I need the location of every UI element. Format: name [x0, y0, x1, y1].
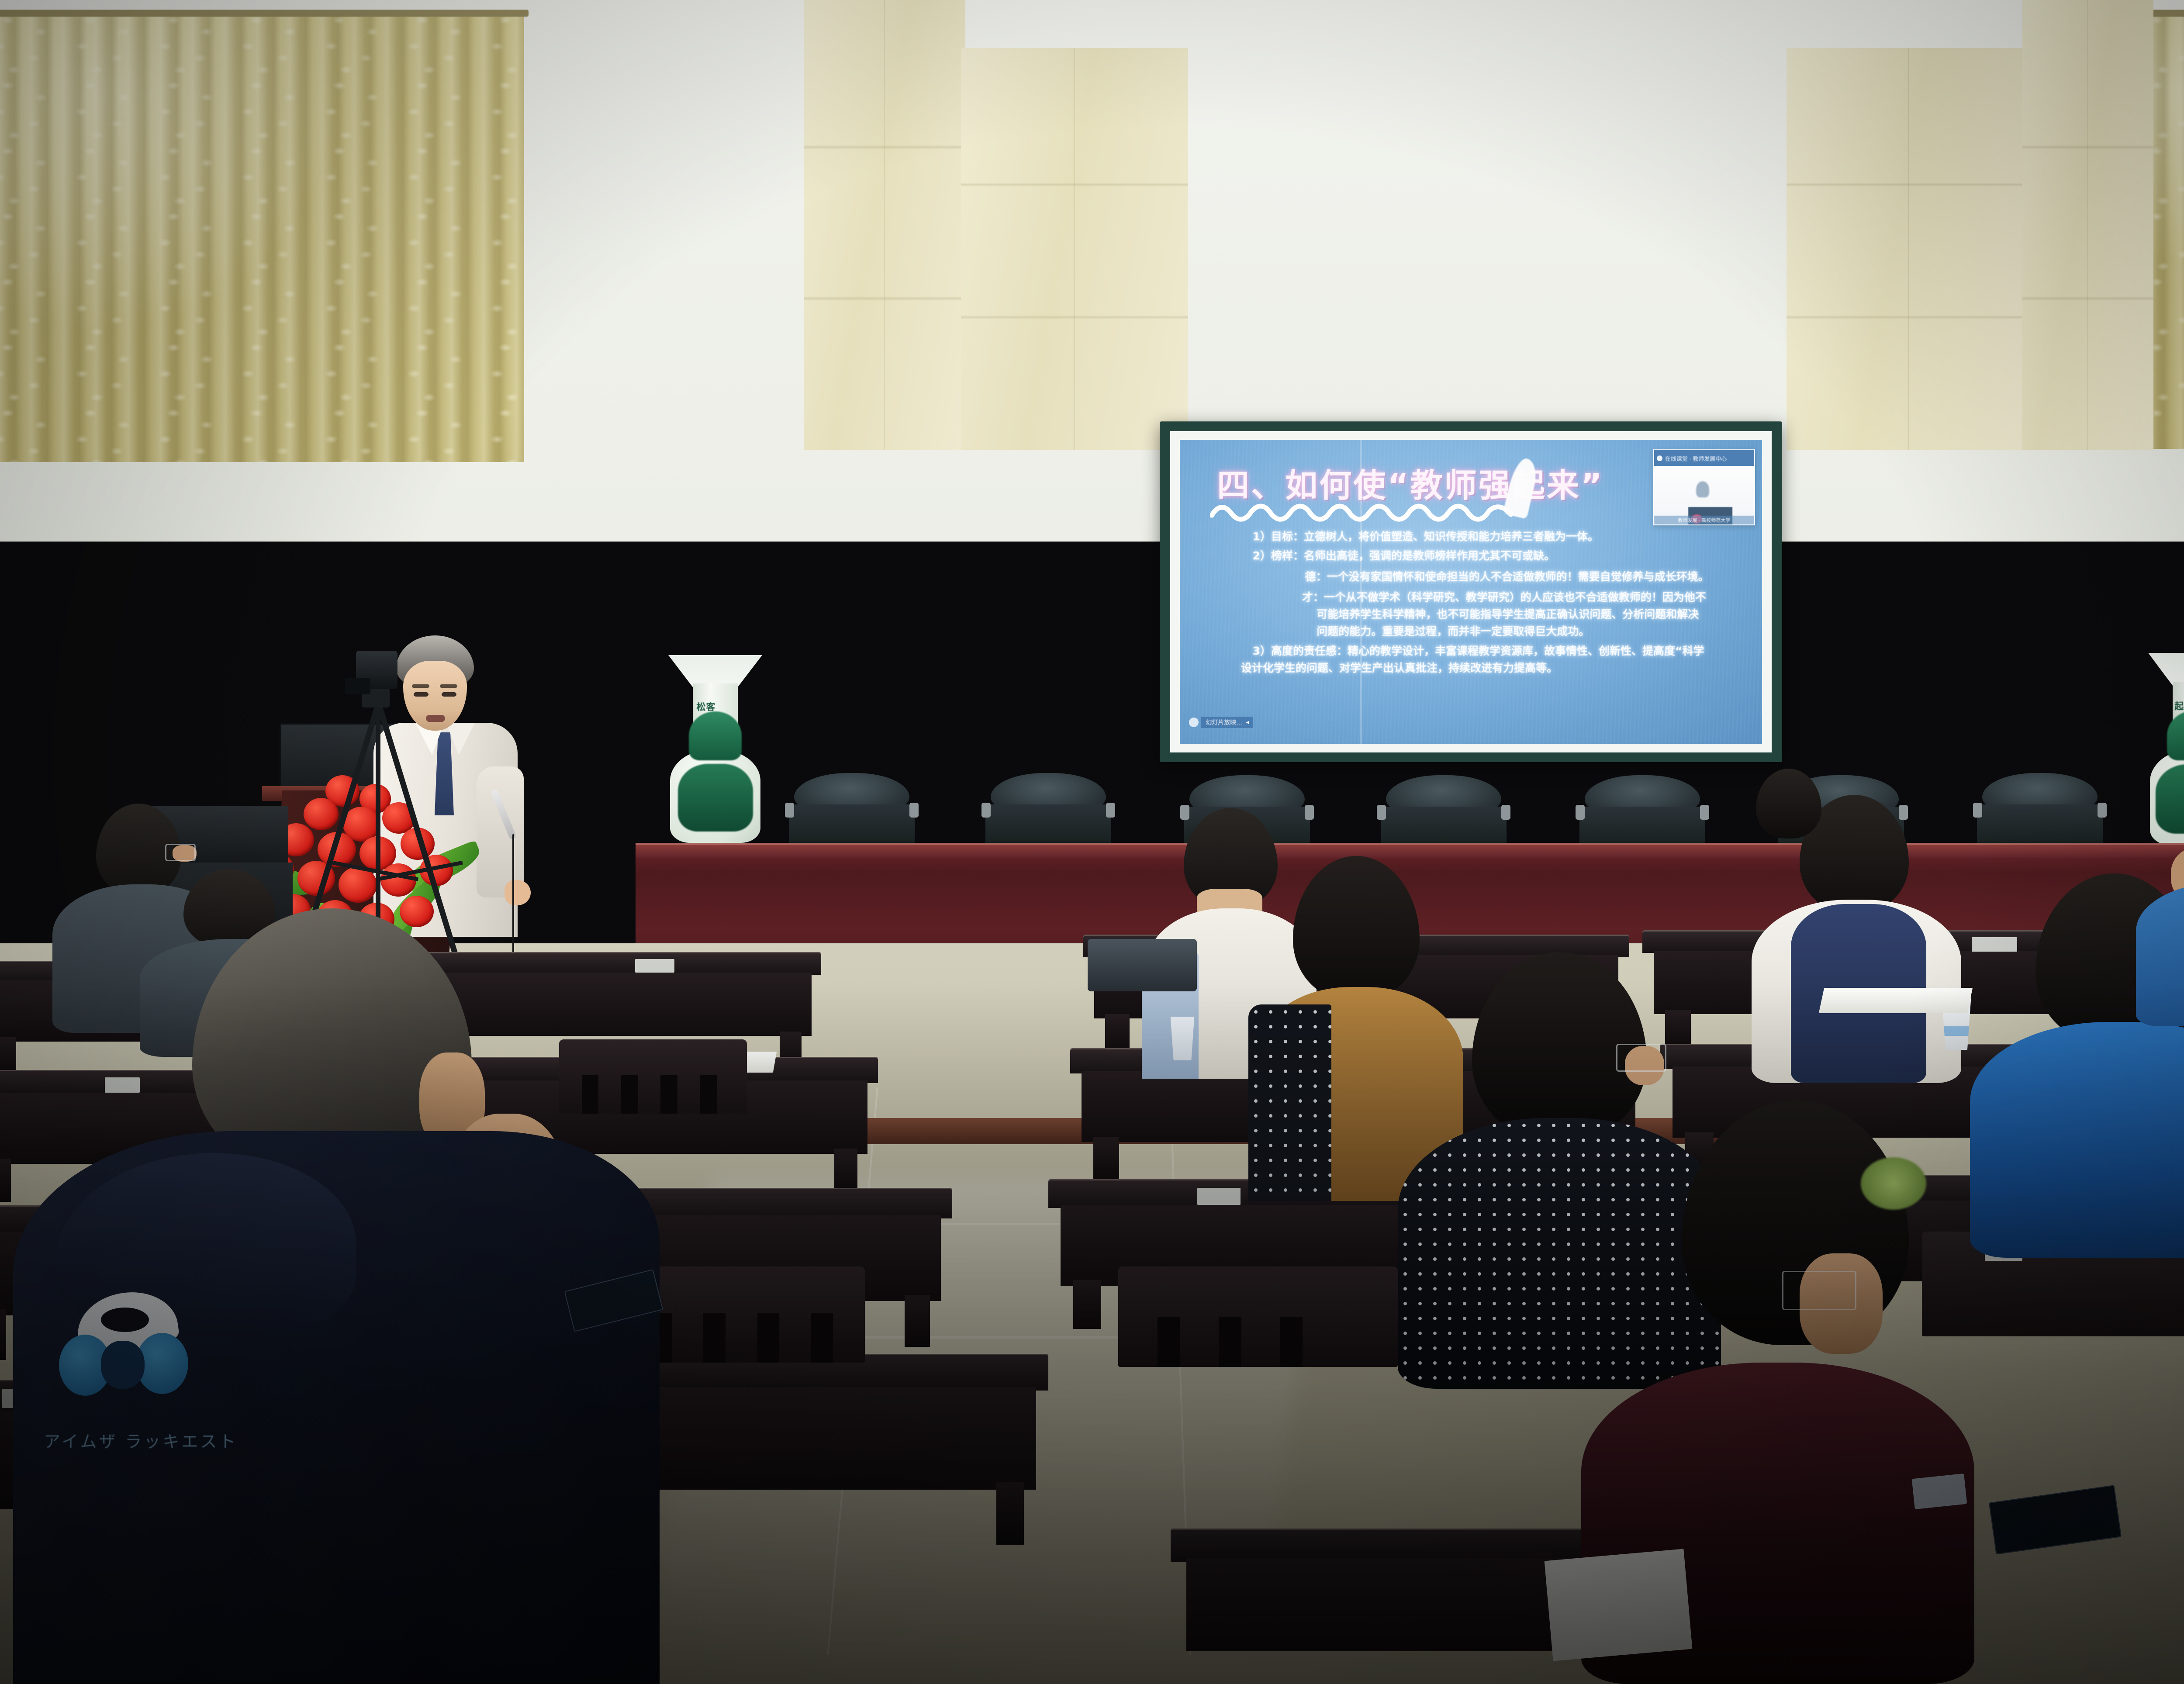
slide-bullet-2: 2）榜样：名师出高徒，强调的是教师榜样作用尤其不可或缺。 — [1253, 547, 1555, 563]
hoodie-graphic-icon — [59, 1293, 203, 1424]
hair-clip — [1861, 1157, 1926, 1210]
slide-taskbar[interactable]: 幻灯片放映… ◂ — [1189, 717, 1253, 728]
audience-member-foreground: アイムザ ラッキエスト — [13, 908, 660, 1684]
pip-caption: 教师发展 · 高校师范大学 — [1654, 516, 1754, 525]
underline-squiggle-icon — [1210, 502, 1524, 522]
curtain-rod-left — [0, 10, 529, 17]
hoodie-graphic-text: アイムザ ラッキエスト — [44, 1428, 238, 1452]
vase-calligraphy-right: 起富 — [2174, 699, 2184, 712]
pip-speaker-figure — [1696, 481, 1709, 498]
porcelain-vase-left: 松客 — [668, 655, 762, 843]
taskbar-label: 幻灯片放映… — [1206, 718, 1242, 727]
slide-bullet-3: 德：一个没有家国情怀和使命担当的人不合适做教师的！需要自觉修养与成长环境。 — [1305, 568, 1709, 584]
pip-header-bar: 在线课堂 · 教师发展中心 — [1654, 450, 1754, 466]
back-wall — [0, 0, 2184, 542]
wall-pilaster — [804, 0, 965, 450]
audience-member — [2127, 782, 2184, 1026]
camera-lens-icon — [345, 678, 370, 694]
slide-bullet-4: 才：一个从不做学术（科学研究、教学研究）的人应该也不合适做教师的！因为他不 — [1302, 589, 1706, 604]
speaker-icon[interactable]: ◂ — [1246, 718, 1249, 726]
pip-header-text: 在线课堂 · 教师发展中心 — [1665, 454, 1727, 462]
wall-panel — [1787, 48, 2031, 450]
taskbar-button[interactable]: 幻灯片放映… ◂ — [1201, 717, 1253, 728]
presentation-slide[interactable]: 四、如何使“教师强起来” 1）目标：立德树人，将价值塑造、知识传授和能力培养三者… — [1180, 440, 1762, 744]
eyeglasses-icon[interactable] — [1912, 1473, 1967, 1509]
vase-calligraphy-left: 松客 — [697, 700, 716, 713]
document-paper[interactable] — [1545, 1549, 1693, 1661]
slide-bullet-8: 设计化学生的问题、对学生产出认真批注，持续改进有力提高等。 — [1241, 659, 1558, 675]
wall-pilaster — [2022, 0, 2153, 450]
lecturer-hand — [505, 880, 531, 905]
pip-logo-icon — [1657, 456, 1662, 461]
lecture-hall-photo: 四、如何使“教师强起来” 1）目标：立德树人，将价值塑造、知识传授和能力培养三者… — [0, 0, 2184, 1684]
curtain-left — [0, 12, 524, 462]
slide-bullet-7: 3）高度的责任感：精心的教学设计，丰富课程教学资源库，故事情性、创新性、提高度“… — [1253, 642, 1704, 658]
pip-video-body: 教师发展 · 高校师范大学 — [1654, 466, 1754, 525]
bag[interactable] — [1088, 939, 1197, 991]
taskbar-orb-icon[interactable] — [1189, 718, 1199, 727]
slide-title: 四、如何使“教师强起来” — [1217, 459, 1603, 506]
picture-in-picture-video[interactable]: 在线课堂 · 教师发展中心 教师发展 · 高校师范大学 — [1653, 449, 1755, 525]
document-paper[interactable] — [1819, 988, 1973, 1013]
slide-bullet-5: 可能培养学生科学精神，也不可能指导学生提高正确认识问题、分析问题和解决 — [1317, 606, 1699, 621]
audience-member — [1721, 769, 1852, 882]
wall-panel — [961, 48, 1188, 450]
slide-bullet-1: 1）目标：立德树人，将价值塑造、知识传授和能力培养三者融为一体。 — [1253, 528, 1599, 544]
lecturer-arm — [477, 766, 524, 897]
slide-bullet-6: 问题的能力。重要是过程，而并非一定要取得巨大成功。 — [1317, 623, 1590, 638]
screen-mat: 四、如何使“教师强起来” 1）目标：立德树人，将价值塑造、知识传授和能力培养三者… — [1170, 431, 1772, 752]
asset-tag — [1197, 1188, 1241, 1205]
projection-screen[interactable]: 四、如何使“教师强起来” 1）目标：立德树人，将价值塑造、知识传授和能力培养三者… — [1160, 421, 1782, 762]
chair-back[interactable] — [1118, 1266, 1398, 1367]
